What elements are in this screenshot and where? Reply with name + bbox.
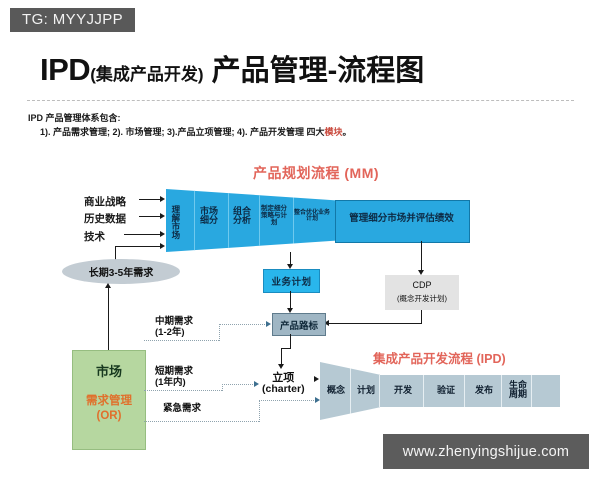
mm-stage-understand-market: 理解市场 [171,199,180,245]
mm-manage-segment-label: 管理细分市场并评估绩效 [336,214,467,224]
long-term-demand-ellipse: 长期3-5年需求 [62,259,180,284]
cdp-name: (概念开发计划) [385,293,459,304]
connector-roadmap-down [290,334,291,349]
intro-line-2-b: 。 [343,127,352,137]
demand-mid-term-line2: (1-2年) [155,328,193,339]
ipd-divider-1 [350,362,351,420]
intro-highlight: 模块 [325,127,343,137]
dotted-short-to-charter [222,384,255,385]
connector-technology [124,234,161,235]
business-plan-box: 业务计划 [263,269,320,293]
cdp-box: CDP (概念开发计划) [385,275,459,310]
ipd-section-title: 集成产品开发流程 (IPD) [373,348,506,367]
market-sub-2: (OR) [73,410,145,422]
arrowhead-charter-to-ipd [314,376,319,382]
dotted-short-up [222,384,223,391]
charter-label-en: (charter) [262,384,305,396]
demand-mid-term: 中期需求 (1-2年) [155,317,193,339]
arrowhead-technology [160,231,165,237]
dotted-mid-bottom [144,340,219,341]
arrowhead-charter-left [254,381,259,387]
dotted-mid-to-roadmap [219,324,267,325]
intro-line-2: 1). 产品需求管理; 2). 市场管理; 3).产品立项管理; 4). 产品开… [40,126,352,140]
ipd-divider-5 [501,375,502,407]
intro-line-2-a: 1). 产品需求管理; 2). 市场管理; 3).产品立项管理; 4). 产品开… [40,127,325,137]
title-main: IPD [40,52,90,87]
connector-roadmap-left [281,348,291,349]
ipd-stage-release: 发布 [470,386,498,395]
connector-cdp-down [421,310,422,324]
arrowhead-strategy [160,196,165,202]
market-sub-1: 需求管理 [73,392,145,408]
connector-cdp-to-roadmap [329,323,422,324]
mm-divider-1 [194,189,195,252]
product-roadmap-box: 产品路标 [272,313,326,336]
input-label-historical-data: 历史数据 [84,211,126,226]
ipd-divider-4 [464,375,465,407]
dotted-urgent-up [259,400,260,422]
mm-stage-segment-strategy: 制定细分策略与计划 [259,206,289,226]
connector-longterm-right [115,246,162,247]
mm-stage-portfolio-analysis: 组合分析 [229,207,255,226]
mm-stage-integrate-plan: 整合优化业务计划 [294,210,330,223]
intro-block: IPD 产品管理体系包含: 1). 产品需求管理; 2). 市场管理; 3).产… [28,112,352,140]
arrowhead-ipd-left [315,397,320,403]
ipd-stage-concept: 概念 [322,386,350,395]
tg-badge: TG: MYYJJPP [10,8,135,32]
market-title: 市场 [73,361,145,380]
page-title: IPD(集成产品开发) 产品管理-流程图 [40,47,424,89]
connector-mm-to-cdp [421,241,422,272]
dotted-urgent-to-ipd [259,400,316,401]
connector-market-to-ellipse [108,286,109,350]
input-label-business-strategy: 商业战略 [84,194,126,209]
dotted-short-bottom [144,390,222,391]
ipd-divider-3 [423,375,424,407]
cdp-code: CDP [385,280,459,290]
slide-canvas: TG: MYYJJPP IPD(集成产品开发) 产品管理-流程图 IPD 产品管… [0,0,600,480]
market-demand-box: 市场 需求管理 (OR) [72,350,146,450]
watermark: www.zhenyingshijue.com [383,434,589,469]
ipd-stage-develop: 开发 [388,386,418,395]
arrowhead-longterm [160,243,165,249]
ipd-stage-lifecycle: 生命周期 [506,381,530,400]
charter-node: 立项 (charter) [262,372,305,396]
dotted-mid-up [219,324,220,341]
arrowhead-roadmap-left [266,321,271,327]
ipd-divider-6 [531,375,532,407]
arrowhead-charter [278,364,284,369]
connector-history [139,216,161,217]
dotted-urgent-bottom [144,421,259,422]
ipd-stage-plan: 计划 [352,386,380,395]
mm-section-title: 产品规划流程 (MM) [253,163,379,183]
ipd-stage-verify: 验证 [431,386,461,395]
arrowhead-history [160,213,165,219]
demand-urgent: 紧急需求 [163,404,201,415]
product-roadmap-label: 产品路标 [273,314,325,335]
arrowhead-market-to-ellipse [105,283,111,288]
input-label-technology: 技术 [84,229,105,244]
intro-line-1: IPD 产品管理体系包含: [28,112,352,126]
divider [27,100,574,101]
mm-stage-segmentation: 市场细分 [196,207,222,226]
title-paren: (集成产品开发) [90,65,203,84]
demand-short-term-line2: (1年内) [155,378,193,389]
watermark-text: www.zhenyingshijue.com [403,444,569,460]
connector-longterm-up [115,246,116,260]
demand-urgent-line1: 紧急需求 [163,404,201,415]
long-term-demand-label: 长期3-5年需求 [62,259,180,284]
connector-strategy [139,199,161,200]
business-plan-label: 业务计划 [264,270,319,292]
demand-short-term: 短期需求 (1年内) [155,367,193,389]
title-cn: 产品管理-流程图 [204,55,425,87]
